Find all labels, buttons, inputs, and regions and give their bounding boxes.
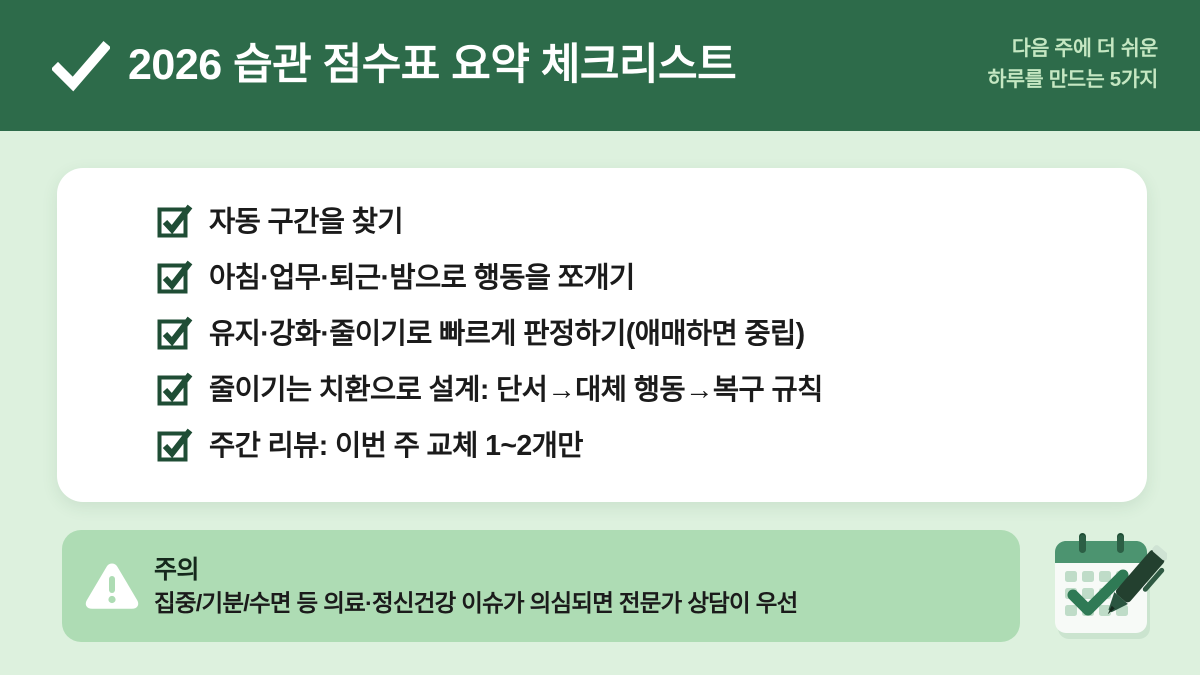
slide-canvas: 2026 습관 점수표 요약 체크리스트 다음 주에 더 쉬운 하루를 만드는 … — [0, 0, 1200, 675]
list-item-label: 자동 구간을 찾기 — [209, 205, 403, 239]
list-item[interactable]: 아침·업무·퇴근·밤으로 행동을 쪼개기 — [157, 250, 1107, 306]
page-title: 2026 습관 점수표 요약 체크리스트 — [128, 42, 736, 89]
list-item-label: 주간 리뷰: 이번 주 교체 1~2개만 — [209, 429, 583, 463]
header-subtitle-line-2: 하루를 만드는 5가지 — [988, 65, 1158, 95]
list-item-label: 아침·업무·퇴근·밤으로 행동을 쪼개기 — [209, 261, 635, 295]
header-bar: 2026 습관 점수표 요약 체크리스트 다음 주에 더 쉬운 하루를 만드는 … — [0, 0, 1200, 131]
check-mark-icon — [52, 38, 110, 96]
checked-box-icon[interactable] — [157, 372, 191, 406]
list-item[interactable]: 자동 구간을 찾기 — [157, 194, 1107, 250]
warning-note-bar: 주의 집중/기분/수면 등 의료·정신건강 이슈가 의심되면 전문가 상담이 우… — [62, 530, 1020, 642]
header-subtitle-line-1: 다음 주에 더 쉬운 — [988, 34, 1158, 64]
warning-note-body: 집중/기분/수면 등 의료·정신건강 이슈가 의심되면 전문가 상담이 우선 — [154, 589, 994, 617]
checked-box-icon[interactable] — [157, 316, 191, 350]
list-item-label: 줄이기는 치환으로 설계: 단서→대체 행동→복구 규칙 — [209, 373, 823, 407]
calendar-with-pen-illustration — [1043, 523, 1167, 651]
checked-box-icon[interactable] — [157, 204, 191, 238]
list-item[interactable]: 줄이기는 치환으로 설계: 단서→대체 행동→복구 규칙 — [157, 362, 1107, 418]
checklist: 자동 구간을 찾기 아침·업무·퇴근·밤으로 행동을 쪼개기 — [157, 194, 1107, 476]
checked-box-icon[interactable] — [157, 428, 191, 462]
warning-note-text: 주의 집중/기분/수면 등 의료·정신건강 이슈가 의심되면 전문가 상담이 우… — [154, 555, 994, 617]
warning-triangle-icon — [84, 560, 140, 612]
header-subtitle: 다음 주에 더 쉬운 하루를 만드는 5가지 — [988, 34, 1158, 97]
list-item[interactable]: 주간 리뷰: 이번 주 교체 1~2개만 — [157, 418, 1107, 474]
checklist-card: 자동 구간을 찾기 아침·업무·퇴근·밤으로 행동을 쪼개기 — [57, 168, 1147, 502]
header-title-group: 2026 습관 점수표 요약 체크리스트 — [52, 36, 988, 96]
checked-box-icon[interactable] — [157, 260, 191, 294]
list-item[interactable]: 유지·강화·줄이기로 빠르게 판정하기(애매하면 중립) — [157, 306, 1107, 362]
warning-note-title: 주의 — [154, 555, 994, 585]
list-item-label: 유지·강화·줄이기로 빠르게 판정하기(애매하면 중립) — [209, 317, 805, 351]
